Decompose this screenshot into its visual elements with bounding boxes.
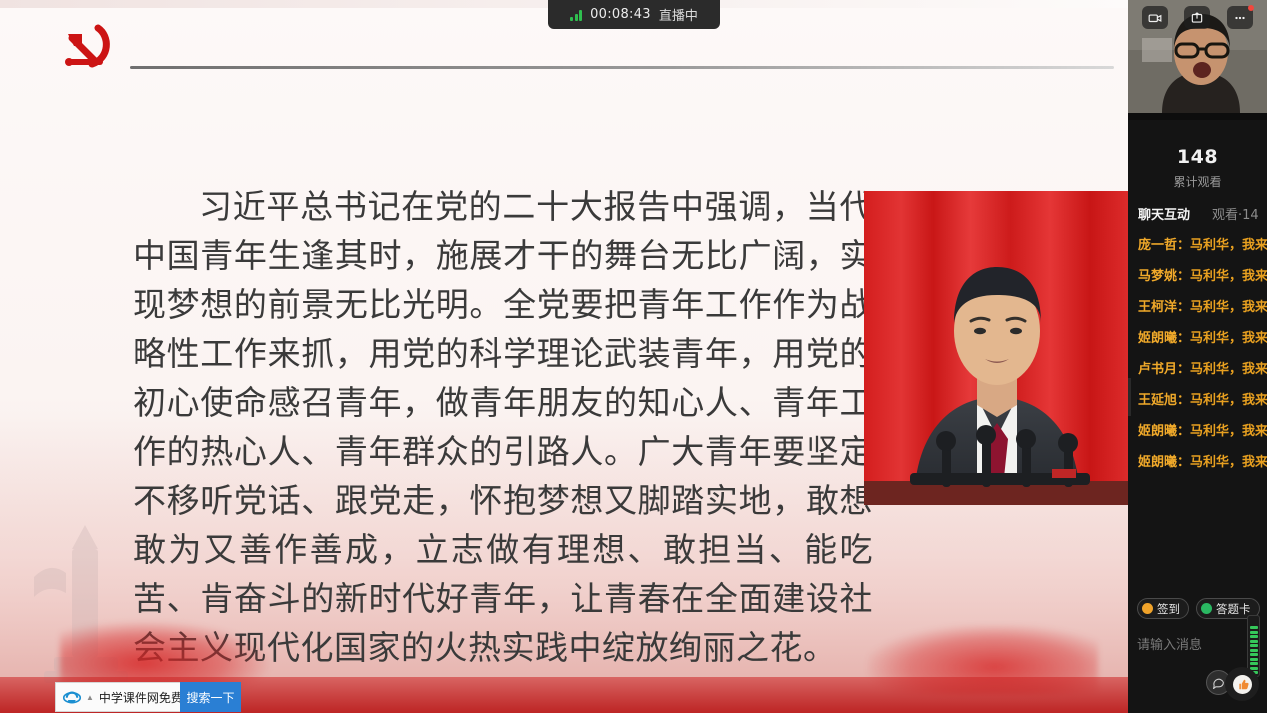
signal-bars-icon <box>570 9 582 21</box>
chat-message-list[interactable]: ▸ 庞一哲：马利华，我来给你点赞！ 马梦姚：马利华，我来给你点赞！ 王柯洋：马利… <box>1128 230 1267 592</box>
tab-viewers[interactable]: 观看·14 <box>1212 204 1259 223</box>
chat-author: 姬朗曦： <box>1138 455 1190 470</box>
answer-card-label: 答题卡 <box>1216 601 1251 617</box>
chat-message: 马梦姚：马利华，我来给你点赞！ <box>1138 267 1261 287</box>
chat-body: 马利华，我来给你点赞！ <box>1190 455 1267 470</box>
slide-body-text: 习近平总书记在党的二十大报告中强调，当代中国青年生逢其时，施展才干的舞台无比广阔… <box>133 182 873 672</box>
live-status-bar: 00:08:43 直播中 <box>548 0 720 29</box>
chat-message: 姬朗曦：马利华，我来给你点赞！ <box>1138 453 1261 473</box>
chat-author: 马梦姚： <box>1138 269 1190 284</box>
speaker-at-podium-photo <box>864 191 1128 505</box>
live-status-label: 直播中 <box>659 5 698 24</box>
notification-dot <box>1248 5 1254 11</box>
header-divider <box>130 66 1114 69</box>
chat-message: 庞一哲：马利华，我来给你点赞！ <box>1138 236 1261 256</box>
checkin-label: 签到 <box>1157 601 1180 617</box>
chat-body: 马利华，我来给你点赞！ <box>1190 362 1267 377</box>
viewer-count: 148 <box>1128 146 1267 168</box>
viewer-count-label: 累计观看 <box>1128 173 1267 190</box>
chat-author: 庞一哲： <box>1138 238 1190 253</box>
chat-message: 姬朗曦：马利华，我来给你点赞！ <box>1138 422 1261 442</box>
chat-author: 姬朗曦： <box>1138 424 1190 439</box>
chat-body: 马利华，我来给你点赞！ <box>1190 424 1267 439</box>
checkin-icon <box>1142 603 1153 614</box>
taskbar-caret-icon: ▲ <box>86 693 94 702</box>
chat-author: 王延旭： <box>1138 393 1190 408</box>
chat-author: 王柯洋： <box>1138 300 1190 315</box>
chat-body: 马利华，我来给你点赞！ <box>1190 393 1267 408</box>
chat-author: 姬朗曦： <box>1138 331 1190 346</box>
chat-message: 王延旭：马利华，我来给你点赞！ <box>1138 391 1261 411</box>
webcam-preview[interactable] <box>1128 0 1267 113</box>
chevron-right-icon[interactable]: ▸ <box>1128 378 1131 416</box>
chat-body: 马利华，我来给你点赞！ <box>1190 269 1267 284</box>
party-emblem-hammer-sickle-icon <box>52 18 124 80</box>
thumbs-up-icon[interactable] <box>1225 667 1259 701</box>
tab-chat[interactable]: 聊天互动 <box>1138 204 1190 223</box>
elapsed-time: 00:08:43 <box>590 7 651 22</box>
viewer-stats: 148 累计观看 <box>1128 120 1267 194</box>
webcam-controls <box>1128 6 1267 29</box>
chat-message: 姬朗曦：马利华，我来给你点赞！ <box>1138 329 1261 349</box>
chat-author: 卢书月： <box>1138 362 1190 377</box>
chat-message: 王柯洋：马利华，我来给你点赞！ <box>1138 298 1261 318</box>
live-class-screen: 习近平总书记在党的二十大报告中强调，当代中国青年生逢其时，施展才干的舞台无比广阔… <box>0 0 1267 713</box>
screen-share-icon[interactable] <box>1184 6 1210 29</box>
chat-message: 卢书月：马利华，我来给你点赞！ <box>1138 360 1261 380</box>
live-sidebar: 148 累计观看 聊天互动 观看·14 ▸ 庞一哲：马利华，我来给你点赞！ 马梦… <box>1128 0 1267 713</box>
search-button[interactable]: 搜索一下 <box>180 682 241 712</box>
answer-card-icon <box>1201 603 1212 614</box>
message-input[interactable]: 请输入消息 <box>1137 630 1258 656</box>
checkin-button[interactable]: 签到 <box>1137 598 1189 619</box>
panel-divider <box>1128 113 1267 120</box>
chat-body: 马利华，我来给你点赞！ <box>1190 300 1267 315</box>
presentation-stage: 习近平总书记在党的二十大报告中强调，当代中国青年生逢其时，施展才干的舞台无比广阔… <box>0 0 1128 713</box>
switch-camera-icon[interactable] <box>1142 6 1168 29</box>
panel-tabs: 聊天互动 观看·14 <box>1128 194 1267 230</box>
chat-body: 马利华，我来给你点赞！ <box>1190 238 1267 253</box>
internet-explorer-icon <box>63 688 81 706</box>
more-options-icon[interactable] <box>1227 6 1253 29</box>
chat-body: 马利华，我来给你点赞！ <box>1190 331 1267 346</box>
